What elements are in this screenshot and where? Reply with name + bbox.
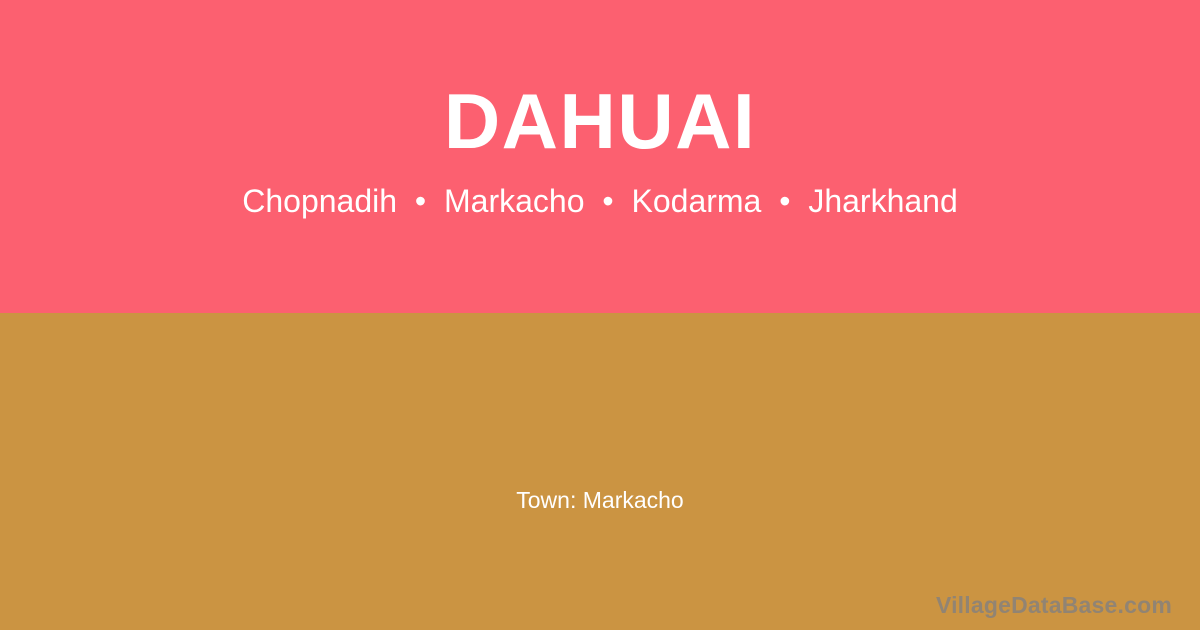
breadcrumb-item-state: Jharkhand bbox=[808, 183, 957, 219]
page-title: DAHUAI bbox=[444, 82, 756, 160]
breadcrumb-separator-icon: • bbox=[593, 182, 622, 220]
breadcrumb: Chopnadih • Markacho • Kodarma • Jharkha… bbox=[242, 182, 958, 220]
breadcrumb-item-block: Markacho bbox=[444, 183, 585, 219]
village-info-card: DAHUAI Chopnadih • Markacho • Kodarma • … bbox=[0, 0, 1200, 630]
town-detail: Town: Markacho bbox=[0, 487, 1200, 515]
header-band: DAHUAI Chopnadih • Markacho • Kodarma • … bbox=[0, 0, 1200, 313]
breadcrumb-item-district: Kodarma bbox=[632, 183, 762, 219]
site-watermark: VillageDataBase.com bbox=[936, 592, 1172, 620]
body-band: Town: Markacho VillageDataBase.com bbox=[0, 313, 1200, 630]
breadcrumb-separator-icon: • bbox=[770, 182, 799, 220]
breadcrumb-item-panchayat: Chopnadih bbox=[242, 183, 397, 219]
breadcrumb-separator-icon: • bbox=[406, 182, 435, 220]
